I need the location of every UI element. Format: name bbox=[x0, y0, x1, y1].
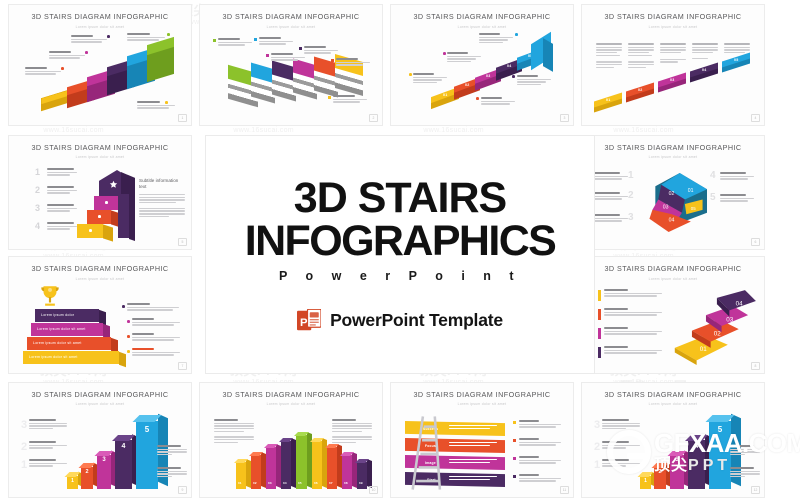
step-label: 01 bbox=[443, 93, 447, 97]
bar-label: 03 bbox=[268, 481, 272, 485]
slide-thumbnail-5[interactable]: 3D STAIRS DIAGRAM INFOGRAPHIC Lorem ipsu… bbox=[8, 135, 192, 250]
callout-marker bbox=[127, 335, 130, 338]
callout-text bbox=[29, 459, 67, 468]
callout-number: 2 bbox=[594, 441, 600, 453]
legend-swatch bbox=[598, 309, 601, 320]
svg-text:02: 02 bbox=[714, 330, 721, 337]
page-number: 6 bbox=[751, 238, 760, 246]
ribbon-text bbox=[449, 442, 497, 447]
step-riser-side bbox=[103, 224, 113, 241]
slide-subtitle: Lorem ipsum dolor sit amet bbox=[582, 25, 764, 29]
step-marker bbox=[89, 229, 92, 232]
bar-label: 04 bbox=[283, 481, 287, 485]
slide-title: 3D STAIRS DIAGRAM INFOGRAPHIC bbox=[391, 12, 573, 21]
callout-text bbox=[29, 419, 67, 431]
powerpoint-product-row: P PowerPoint Template bbox=[297, 309, 503, 332]
callout-text bbox=[29, 441, 67, 450]
bar-number: 2 bbox=[81, 469, 93, 475]
callout-text bbox=[519, 420, 561, 429]
callout-text bbox=[519, 438, 561, 447]
bar-number: 1 bbox=[67, 478, 78, 484]
callout-text bbox=[132, 318, 180, 327]
hero-title-line2: INFOGRAPHICS bbox=[245, 220, 555, 263]
pentagon-3d-chart: 01 02 03 04 05 bbox=[638, 170, 714, 232]
callout-marker bbox=[409, 73, 412, 76]
powerpoint-icon: P bbox=[297, 309, 321, 332]
step-label: 02 bbox=[465, 83, 469, 87]
slide-thumbnail-7[interactable]: 3D STAIRS DIAGRAM INFOGRAPHIC Lorem ipsu… bbox=[8, 256, 192, 374]
callout-text bbox=[71, 35, 107, 44]
bar-label: 05 bbox=[298, 481, 302, 485]
page-number: 5 bbox=[178, 238, 187, 246]
callout-marker bbox=[127, 320, 130, 323]
step-label: 02 bbox=[638, 88, 642, 92]
svg-text:01: 01 bbox=[700, 346, 707, 353]
callout-text bbox=[157, 445, 187, 457]
svg-text:01: 01 bbox=[688, 188, 694, 194]
slide-title: 3D STAIRS DIAGRAM INFOGRAPHIC bbox=[582, 12, 764, 21]
callout-text bbox=[127, 33, 165, 42]
powerpoint-template-label: PowerPoint Template bbox=[330, 310, 503, 331]
svg-text:04: 04 bbox=[669, 218, 675, 224]
callout-text bbox=[259, 37, 293, 46]
list-number: 3 bbox=[35, 203, 40, 213]
callout-marker bbox=[513, 475, 516, 478]
slide-subtitle: Lorem ipsum dolor sit amet bbox=[200, 25, 382, 29]
hero-title: 3D STAIRS INFOGRAPHICS bbox=[245, 177, 555, 262]
ribbon-text bbox=[449, 425, 497, 430]
bar-label: 01 bbox=[238, 481, 242, 485]
slide-thumbnail-4[interactable]: 3D STAIRS DIAGRAM INFOGRAPHIC Lorem ipsu… bbox=[581, 4, 765, 126]
slide-subtitle: Lorem ipsum dolor sit amet bbox=[9, 25, 191, 29]
slide-title: 3D STAIRS DIAGRAM INFOGRAPHIC bbox=[582, 143, 764, 152]
callout-number: 1 bbox=[628, 170, 634, 181]
callout-text bbox=[479, 33, 513, 45]
callout-marker bbox=[107, 35, 110, 38]
callout-text bbox=[602, 419, 640, 431]
callout-marker bbox=[254, 38, 257, 41]
step-label: 01 bbox=[606, 98, 610, 102]
callout-number: 1 bbox=[21, 459, 27, 471]
callout-text bbox=[336, 58, 370, 67]
callout-text bbox=[517, 75, 551, 87]
zigzag-stairs: 01 02 03 04 bbox=[670, 287, 756, 365]
slide-subtitle: Lorem ipsum dolor sit amet bbox=[9, 155, 191, 159]
callout-text bbox=[137, 101, 175, 110]
callout-text bbox=[333, 95, 367, 104]
step-label: 04 bbox=[702, 68, 706, 72]
callout-marker bbox=[513, 457, 516, 460]
brand-name: GFXAA.COM bbox=[654, 430, 800, 456]
star-icon bbox=[109, 180, 118, 189]
slide-thumbnail-11[interactable]: 3D STAIRS DIAGRAM INFOGRAPHIC Lorem ipsu… bbox=[390, 382, 574, 498]
callout-text bbox=[594, 214, 628, 223]
callout-text bbox=[594, 172, 628, 181]
slide-title: 3D STAIRS DIAGRAM INFOGRAPHIC bbox=[9, 390, 191, 399]
svg-text:04: 04 bbox=[736, 301, 743, 308]
callout-text bbox=[413, 73, 447, 85]
list-item bbox=[47, 186, 77, 195]
bar-number: 1 bbox=[640, 478, 651, 484]
callout-text bbox=[214, 419, 254, 444]
callout-text bbox=[720, 172, 754, 181]
page-number: 4 bbox=[751, 114, 760, 122]
callout-text bbox=[604, 308, 662, 317]
hero-title-line1: 3D STAIRS bbox=[294, 174, 506, 222]
step-label: 03 bbox=[486, 74, 490, 78]
callout-number: 3 bbox=[594, 419, 600, 431]
slide-thumbnail-2[interactable]: 3D STAIRS DIAGRAM INFOGRAPHIC Lorem ipsu… bbox=[199, 4, 383, 126]
callout-marker bbox=[331, 59, 334, 62]
slide-title: 3D STAIRS DIAGRAM INFOGRAPHIC bbox=[200, 12, 382, 21]
list-number: 4 bbox=[35, 221, 40, 231]
callout-number: 4 bbox=[710, 170, 716, 181]
slide-thumbnail-3[interactable]: 3D STAIRS DIAGRAM INFOGRAPHIC Lorem ipsu… bbox=[390, 4, 574, 126]
callout-marker bbox=[85, 51, 88, 54]
bar-number: 5 bbox=[136, 425, 158, 434]
list-number: 2 bbox=[35, 185, 40, 195]
callout-text bbox=[519, 456, 561, 465]
callout-number: 1 bbox=[594, 459, 600, 471]
slide-subtitle: Lorem ipsum dolor sit amet bbox=[582, 277, 764, 281]
callout-text bbox=[49, 51, 85, 60]
slide-thumbnail-10[interactable]: 3D STAIRS DIAGRAM INFOGRAPHIC Lorem ipsu… bbox=[199, 382, 383, 498]
slide-title: 3D STAIRS DIAGRAM INFOGRAPHIC bbox=[582, 390, 764, 399]
callout-marker bbox=[266, 54, 269, 57]
callout-text bbox=[132, 333, 180, 342]
slide-subtitle: Lorem ipsum dolor sit amet bbox=[200, 402, 382, 406]
callout-marker bbox=[299, 47, 302, 50]
callout-text bbox=[127, 303, 179, 312]
g-mark-icon bbox=[607, 430, 651, 474]
bar-label: 07 bbox=[329, 481, 333, 485]
legend-swatch bbox=[598, 328, 601, 339]
svg-text:03: 03 bbox=[663, 204, 669, 210]
callout-marker bbox=[443, 52, 446, 55]
body-text bbox=[139, 194, 185, 219]
slide-title: 3D STAIRS DIAGRAM INFOGRAPHIC bbox=[391, 390, 573, 399]
stack-bar-side bbox=[119, 352, 126, 368]
slide-thumbnail-9[interactable]: 3D STAIRS DIAGRAM INFOGRAPHIC Lorem ipsu… bbox=[8, 382, 192, 498]
step-marker bbox=[105, 201, 108, 204]
page-number: 10 bbox=[369, 486, 378, 494]
list-item bbox=[47, 222, 77, 231]
stack-bar-label: Lorem ipsum dolor sit amet bbox=[37, 327, 86, 331]
callout-number: 3 bbox=[628, 212, 634, 223]
callout-marker bbox=[213, 39, 216, 42]
callout-number: 2 bbox=[21, 441, 27, 453]
slide-title: 3D STAIRS DIAGRAM INFOGRAPHIC bbox=[200, 390, 382, 399]
slide-subtitle: Lorem ipsum dolor sit amet bbox=[582, 155, 764, 159]
callout-marker bbox=[167, 33, 170, 36]
callout-marker bbox=[515, 33, 518, 36]
svg-text:02: 02 bbox=[669, 191, 675, 197]
callout-text bbox=[594, 192, 628, 201]
callout-marker bbox=[61, 67, 64, 70]
page-number: 12 bbox=[751, 486, 760, 494]
page-number: 3 bbox=[560, 114, 569, 122]
list-item bbox=[47, 168, 77, 177]
callout-text bbox=[447, 52, 481, 64]
thumbnail-board: 顶尖PPT网www.16sucai.com 顶尖PPT网www.16sucai.… bbox=[0, 0, 800, 502]
arrow-shaft bbox=[118, 194, 129, 238]
page-number: 1 bbox=[178, 114, 187, 122]
step-label: 03 bbox=[670, 78, 674, 82]
callout-text bbox=[332, 419, 372, 444]
callout-marker bbox=[127, 350, 130, 353]
arrow-shaft-side bbox=[129, 195, 135, 241]
legend-swatch bbox=[598, 290, 601, 301]
hero-subtitle: P o w e r P o i n t bbox=[279, 269, 521, 283]
callout-number: 2 bbox=[628, 190, 634, 201]
callout-text bbox=[604, 289, 662, 298]
svg-text:03: 03 bbox=[726, 316, 733, 323]
stack-bar-label: Lorem ipsum dolor sit amet bbox=[33, 341, 82, 345]
stack-bar-label: Lorem ipsum dolor sit amet bbox=[29, 355, 78, 359]
callout-text bbox=[157, 467, 187, 479]
step-marker bbox=[98, 215, 101, 218]
callout-marker bbox=[476, 97, 479, 100]
stack-bar-label: Lorem ipsum dolor bbox=[41, 313, 74, 317]
column-text bbox=[660, 43, 686, 64]
slide-subtitle: Lorem ipsum dolor sit amet bbox=[9, 277, 191, 281]
slide-thumbnail-1[interactable]: 3D STAIRS DIAGRAM INFOGRAPHIC Lorem ipsu… bbox=[8, 4, 192, 126]
ribbon-text bbox=[449, 459, 497, 464]
bar-label: 09 bbox=[359, 481, 363, 485]
callout-text bbox=[604, 346, 662, 355]
callout-text bbox=[720, 194, 754, 203]
slide-subtitle: Lorem ipsum dolor sit amet bbox=[391, 25, 573, 29]
page-number: 8 bbox=[751, 362, 760, 370]
step-label: 05 bbox=[734, 58, 738, 62]
callout-marker bbox=[513, 421, 516, 424]
callout-text bbox=[271, 53, 305, 62]
step-label: 04 bbox=[507, 64, 511, 68]
slide-thumbnail-8[interactable]: 3D STAIRS DIAGRAM INFOGRAPHIC Lorem ipsu… bbox=[581, 256, 765, 374]
trophy-icon bbox=[37, 283, 63, 309]
brand-watermark-text: GFXAA.COM 顶尖PPT bbox=[654, 430, 800, 474]
callout-marker bbox=[328, 96, 331, 99]
ribbon-text bbox=[449, 476, 497, 481]
hero-title-panel: 3D STAIRS INFOGRAPHICS P o w e r P o i n… bbox=[205, 135, 595, 374]
callout-marker bbox=[122, 305, 125, 308]
callout-marker bbox=[513, 439, 516, 442]
ribbon-arrow-head-side bbox=[543, 38, 553, 72]
bar-number: 3 bbox=[97, 457, 111, 463]
svg-text:P: P bbox=[300, 317, 308, 329]
column-bar-side bbox=[367, 459, 372, 488]
callout-text bbox=[218, 38, 252, 47]
callout-marker bbox=[512, 75, 515, 78]
bar-label: 02 bbox=[253, 481, 257, 485]
list-number: 1 bbox=[35, 167, 40, 177]
brand-name-cn: 顶尖PPT bbox=[654, 458, 800, 474]
callout-marker bbox=[165, 101, 168, 104]
page-number: 7 bbox=[178, 362, 187, 370]
callout-text bbox=[25, 67, 61, 76]
bar-label: 08 bbox=[344, 481, 348, 485]
list-item bbox=[47, 204, 77, 213]
slide-title: 3D STAIRS DIAGRAM INFOGRAPHIC bbox=[9, 12, 191, 21]
callout-text bbox=[481, 97, 515, 106]
slide-subtitle: Lorem ipsum dolor sit amet bbox=[582, 402, 764, 406]
callout-text bbox=[304, 46, 338, 55]
page-number: 9 bbox=[178, 486, 187, 494]
callout-number: 5 bbox=[710, 192, 716, 203]
slide-title: 3D STAIRS DIAGRAM INFOGRAPHIC bbox=[582, 264, 764, 273]
bar-number: 4 bbox=[115, 443, 132, 450]
slide-title: 3D STAIRS DIAGRAM INFOGRAPHIC bbox=[9, 143, 191, 152]
slide-thumbnail-6[interactable]: 3D STAIRS DIAGRAM INFOGRAPHIC Lorem ipsu… bbox=[581, 135, 765, 250]
callout-text bbox=[519, 474, 561, 483]
bar-label: 06 bbox=[314, 481, 318, 485]
ladder-icon bbox=[411, 413, 445, 493]
brand-watermark: GFXAA.COM 顶尖PPT bbox=[607, 430, 800, 474]
callout-text bbox=[132, 348, 180, 357]
page-number: 2 bbox=[369, 114, 378, 122]
column-text bbox=[596, 43, 622, 69]
page-number: 11 bbox=[560, 486, 569, 494]
column-text bbox=[692, 43, 718, 60]
svg-text:05: 05 bbox=[691, 206, 696, 211]
legend-swatch bbox=[598, 347, 601, 358]
slide-subtitle: Lorem ipsum dolor sit amet bbox=[391, 402, 573, 406]
slide-subtitle: Lorem ipsum dolor sit amet bbox=[9, 402, 191, 406]
body-heading: Subtitle information text bbox=[139, 178, 185, 189]
callout-number: 3 bbox=[21, 419, 27, 431]
callout-text bbox=[604, 327, 662, 336]
column-text bbox=[628, 43, 654, 69]
slide-title: 3D STAIRS DIAGRAM INFOGRAPHIC bbox=[9, 264, 191, 273]
